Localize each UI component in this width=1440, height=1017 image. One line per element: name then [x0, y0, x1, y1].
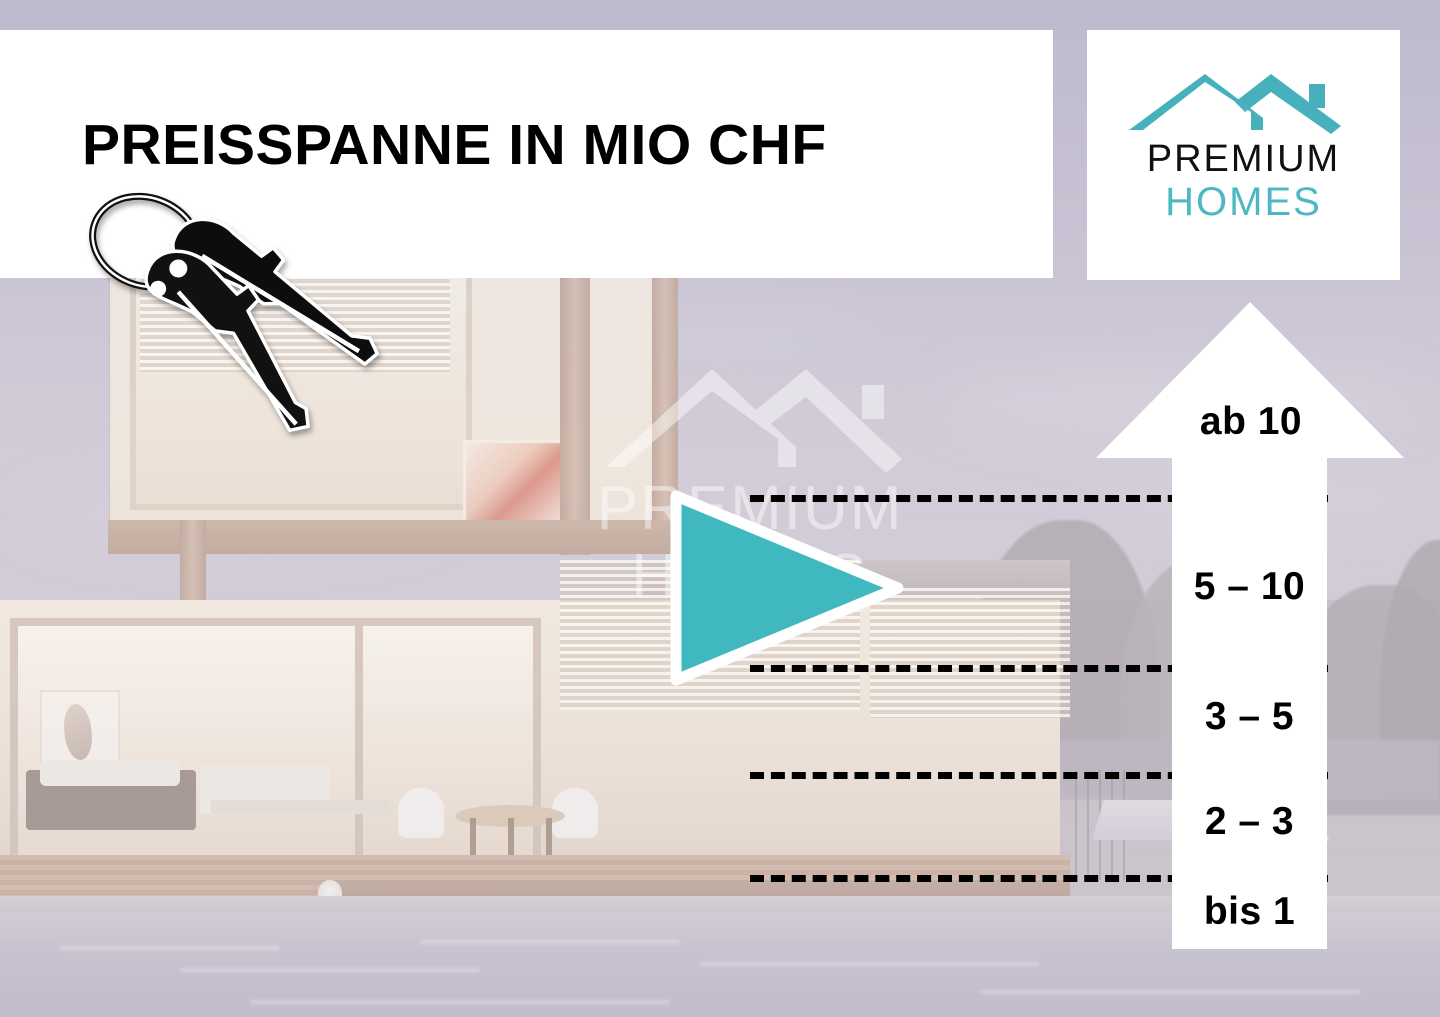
- sofa-cushion: [40, 760, 180, 786]
- window-blinds: [140, 276, 450, 372]
- tier-label-5-10: 5 – 10: [1172, 565, 1327, 609]
- tier-label-2-3: 2 – 3: [1172, 800, 1327, 844]
- logo-text-homes: HOMES: [1165, 180, 1322, 224]
- facade-column: [560, 255, 590, 555]
- water-ripple: [420, 940, 680, 944]
- logo-text-premium: PREMIUM: [1147, 138, 1340, 180]
- dining-chair: [398, 788, 444, 838]
- play-button[interactable]: [666, 488, 904, 688]
- water-ripple: [980, 990, 1360, 994]
- brand-logo-box: PREMIUM HOMES: [1087, 30, 1400, 280]
- water-ripple: [60, 946, 280, 950]
- house-roof-icon: [1125, 64, 1363, 134]
- water-ripple: [180, 968, 480, 972]
- tier-label-ab-10: ab 10: [1166, 400, 1336, 444]
- interior-artwork: [463, 440, 569, 524]
- water-ripple: [250, 1000, 670, 1004]
- page-title: PREISSPANNE IN MIO CHF: [82, 112, 827, 178]
- coffee-table: [210, 800, 390, 814]
- price-range-arrow-chart: ab 10 5 – 10 3 – 5 2 – 3 bis 1: [1094, 300, 1406, 950]
- title-bar: PREISSPANNE IN MIO CHF: [0, 30, 1053, 278]
- slide-canvas: PREMIUM HOMES PREISSPANNE IN MIO CHF: [0, 0, 1440, 1017]
- tier-label-bis-1: bis 1: [1172, 890, 1327, 934]
- water-ripple: [700, 962, 1040, 966]
- tier-label-3-5: 3 – 5: [1172, 695, 1327, 739]
